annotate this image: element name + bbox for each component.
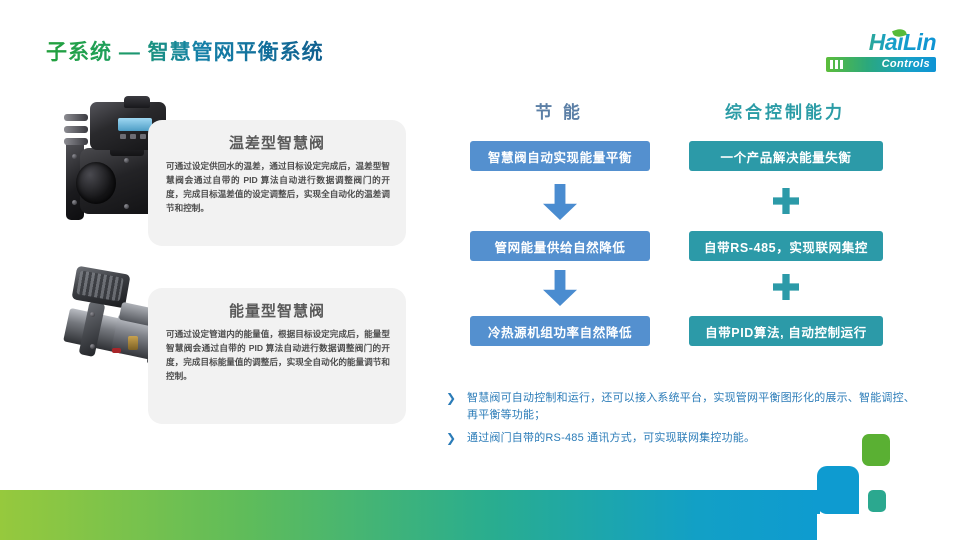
valve2-indicator <box>112 348 121 353</box>
column-heading-energy-saving: 节 能 <box>466 98 652 123</box>
valve1-bolt <box>124 158 129 163</box>
arrow-down-icon <box>543 184 577 220</box>
card-energy-valve: 能量型智慧阀 可通过设定管道内的能量值，根据目标设定完成后，能量型智慧阀会通过自… <box>148 288 406 424</box>
footer-deco-square-green <box>862 434 890 466</box>
bullet-list: ❯ 智慧阀可自动控制和运行，还可以接入系统平台，实现管网平衡图形化的展示、智能调… <box>446 390 916 453</box>
card-body: 可通过设定管道内的能量值，根据目标设定完成后，能量型智慧阀会通过自带的 PID … <box>166 328 390 384</box>
valve1-bore <box>76 162 116 204</box>
slide-root: 子系统 — 智慧管网平衡系统 HaiLin Controls <box>0 0 960 540</box>
logo-controls-bar: Controls <box>826 57 936 72</box>
plus-icon <box>773 188 799 214</box>
valve2-bolt <box>90 344 95 349</box>
card-title: 温差型智慧阀 <box>148 132 406 153</box>
valve1-lcd-display <box>118 118 152 131</box>
plus-icon <box>773 274 799 300</box>
arrow-down-icon <box>543 270 577 306</box>
valve1-bolt <box>72 200 77 205</box>
list-item-text: 智慧阀可自动控制和运行，还可以接入系统平台，实现管网平衡图形化的展示、智能调控、… <box>467 390 916 424</box>
valve2-bolt <box>90 312 95 317</box>
card-temperature-difference-valve: 温差型智慧阀 可通过设定供回水的温差，通过目标设定完成后，温差型智慧阀会通过自带… <box>148 120 406 246</box>
list-item: ❯ 通过阀门自带的RS-485 通讯方式，可实现联网集控功能。 <box>446 430 916 447</box>
footer-gradient-bar <box>0 490 820 540</box>
logo-wordmark: HaiLin <box>814 30 936 55</box>
list-item-text: 通过阀门自带的RS-485 通讯方式，可实现联网集控功能。 <box>467 430 755 447</box>
chevron-right-icon: ❯ <box>446 392 459 405</box>
valve2-brass-fitting <box>128 336 138 350</box>
hailin-logo: HaiLin Controls <box>814 30 936 74</box>
valve1-cable-ports <box>64 114 88 150</box>
card-body: 可通过设定供回水的温差，通过目标设定完成后，温差型智慧阀会通过自带的 PID 算… <box>166 160 390 216</box>
valve1-buttons <box>120 134 146 139</box>
logo-tick-marks-icon <box>830 60 843 69</box>
footer-deco-notch <box>817 514 859 540</box>
logo-subtext: Controls <box>882 57 930 72</box>
valve1-top-cap <box>124 96 150 108</box>
page-title: 子系统 — 智慧管网平衡系统 <box>46 36 324 66</box>
valve1-bolt <box>124 204 129 209</box>
flow-box-energy-1: 智慧阀自动实现能量平衡 <box>470 141 650 171</box>
card-title: 能量型智慧阀 <box>148 300 406 321</box>
flow-box-control-2: 自带RS-485，实现联网集控 <box>689 231 883 261</box>
footer-deco-square-teal <box>868 490 886 512</box>
valve1-bolt <box>72 154 77 159</box>
flow-box-control-3: 自带PID算法, 自动控制运行 <box>689 316 883 346</box>
footer-deco-square-cyan <box>817 466 859 514</box>
chevron-right-icon: ❯ <box>446 432 459 445</box>
flow-box-energy-3: 冷热源机组功率自然降低 <box>470 316 650 346</box>
list-item: ❯ 智慧阀可自动控制和运行，还可以接入系统平台，实现管网平衡图形化的展示、智能调… <box>446 390 916 424</box>
flow-box-control-1: 一个产品解决能量失衡 <box>689 141 883 171</box>
flow-box-energy-2: 管网能量供给自然降低 <box>470 231 650 261</box>
column-heading-control-capability: 综合控制能力 <box>686 98 884 123</box>
